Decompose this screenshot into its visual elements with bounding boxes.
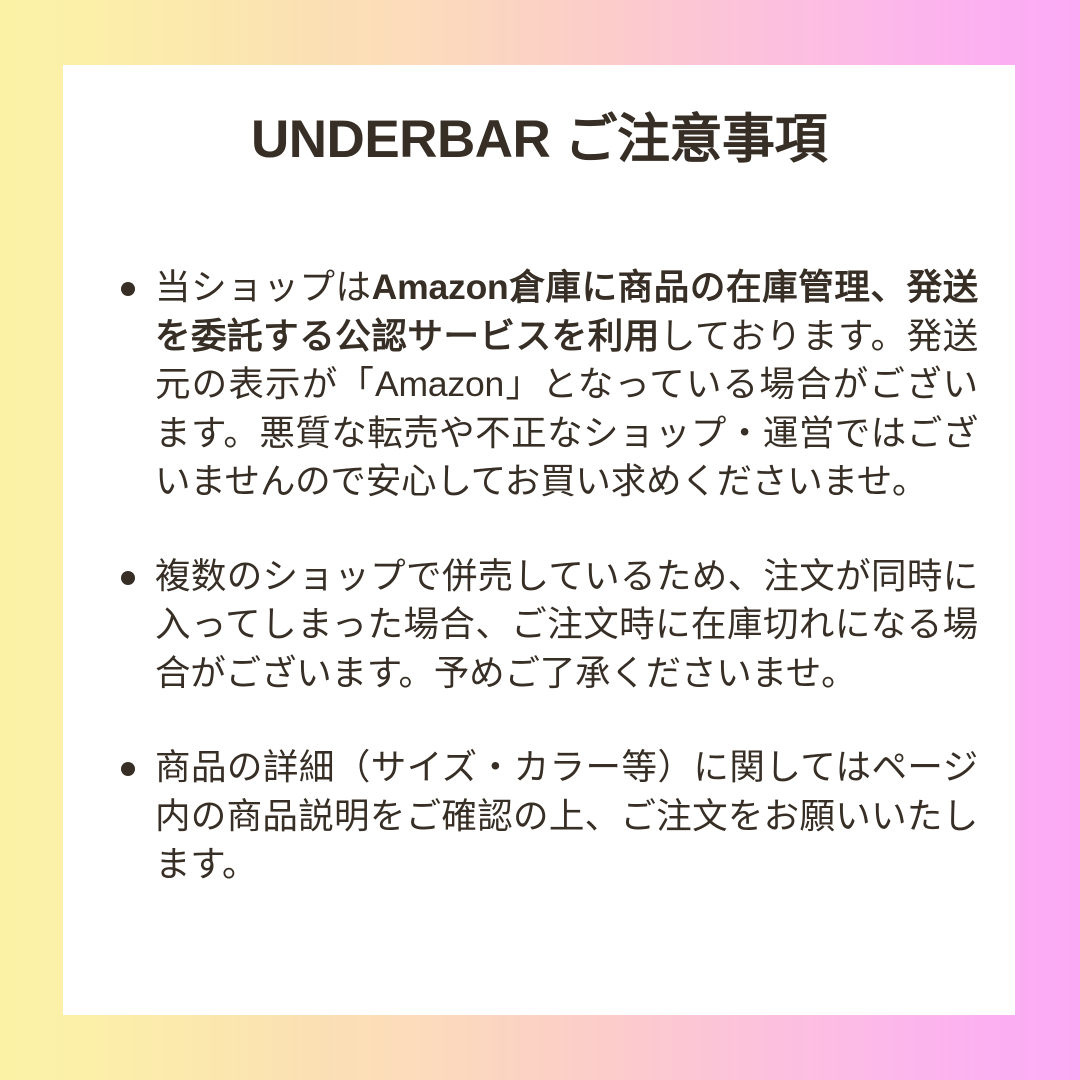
notice-text: 当ショップはAmazon倉庫に商品の在庫管理、発送を委託する公認サービスを利用し… bbox=[155, 263, 978, 506]
page-title: UNDERBAR ご注意事項 bbox=[63, 109, 1015, 172]
notice-text-run: 複数のショップで併売しているため、注文が同時に入ってしまった場合、ご注文時に在庫… bbox=[155, 556, 978, 693]
notice-list: 当ショップはAmazon倉庫に商品の在庫管理、発送を委託する公認サービスを利用し… bbox=[108, 263, 978, 889]
bullet-dot-icon bbox=[121, 762, 135, 776]
notice-text: 複数のショップで併売しているため、注文が同時に入ってしまった場合、ご注文時に在庫… bbox=[155, 552, 978, 698]
bullet-dot-icon bbox=[121, 282, 135, 296]
notice-card-inner: UNDERBAR ご注意事項 当ショップはAmazon倉庫に商品の在庫管理、発送… bbox=[63, 65, 1015, 1015]
notice-card: UNDERBAR ご注意事項 当ショップはAmazon倉庫に商品の在庫管理、発送… bbox=[63, 65, 1015, 1015]
notice-text-run: 当ショップは bbox=[155, 267, 372, 307]
notice-text: 商品の詳細（サイズ・カラー等）に関してはページ内の商品説明をご確認の上、ご注文を… bbox=[155, 743, 978, 889]
bullet-dot-icon bbox=[121, 571, 135, 585]
notice-text-run: 商品の詳細（サイズ・カラー等）に関してはページ内の商品説明をご確認の上、ご注文を… bbox=[155, 747, 978, 884]
list-item: 当ショップはAmazon倉庫に商品の在庫管理、発送を委託する公認サービスを利用し… bbox=[108, 263, 978, 506]
list-item: 商品の詳細（サイズ・カラー等）に関してはページ内の商品説明をご確認の上、ご注文を… bbox=[108, 743, 978, 889]
poster-canvas: UNDERBAR ご注意事項 当ショップはAmazon倉庫に商品の在庫管理、発送… bbox=[0, 0, 1080, 1080]
list-item: 複数のショップで併売しているため、注文が同時に入ってしまった場合、ご注文時に在庫… bbox=[108, 552, 978, 698]
